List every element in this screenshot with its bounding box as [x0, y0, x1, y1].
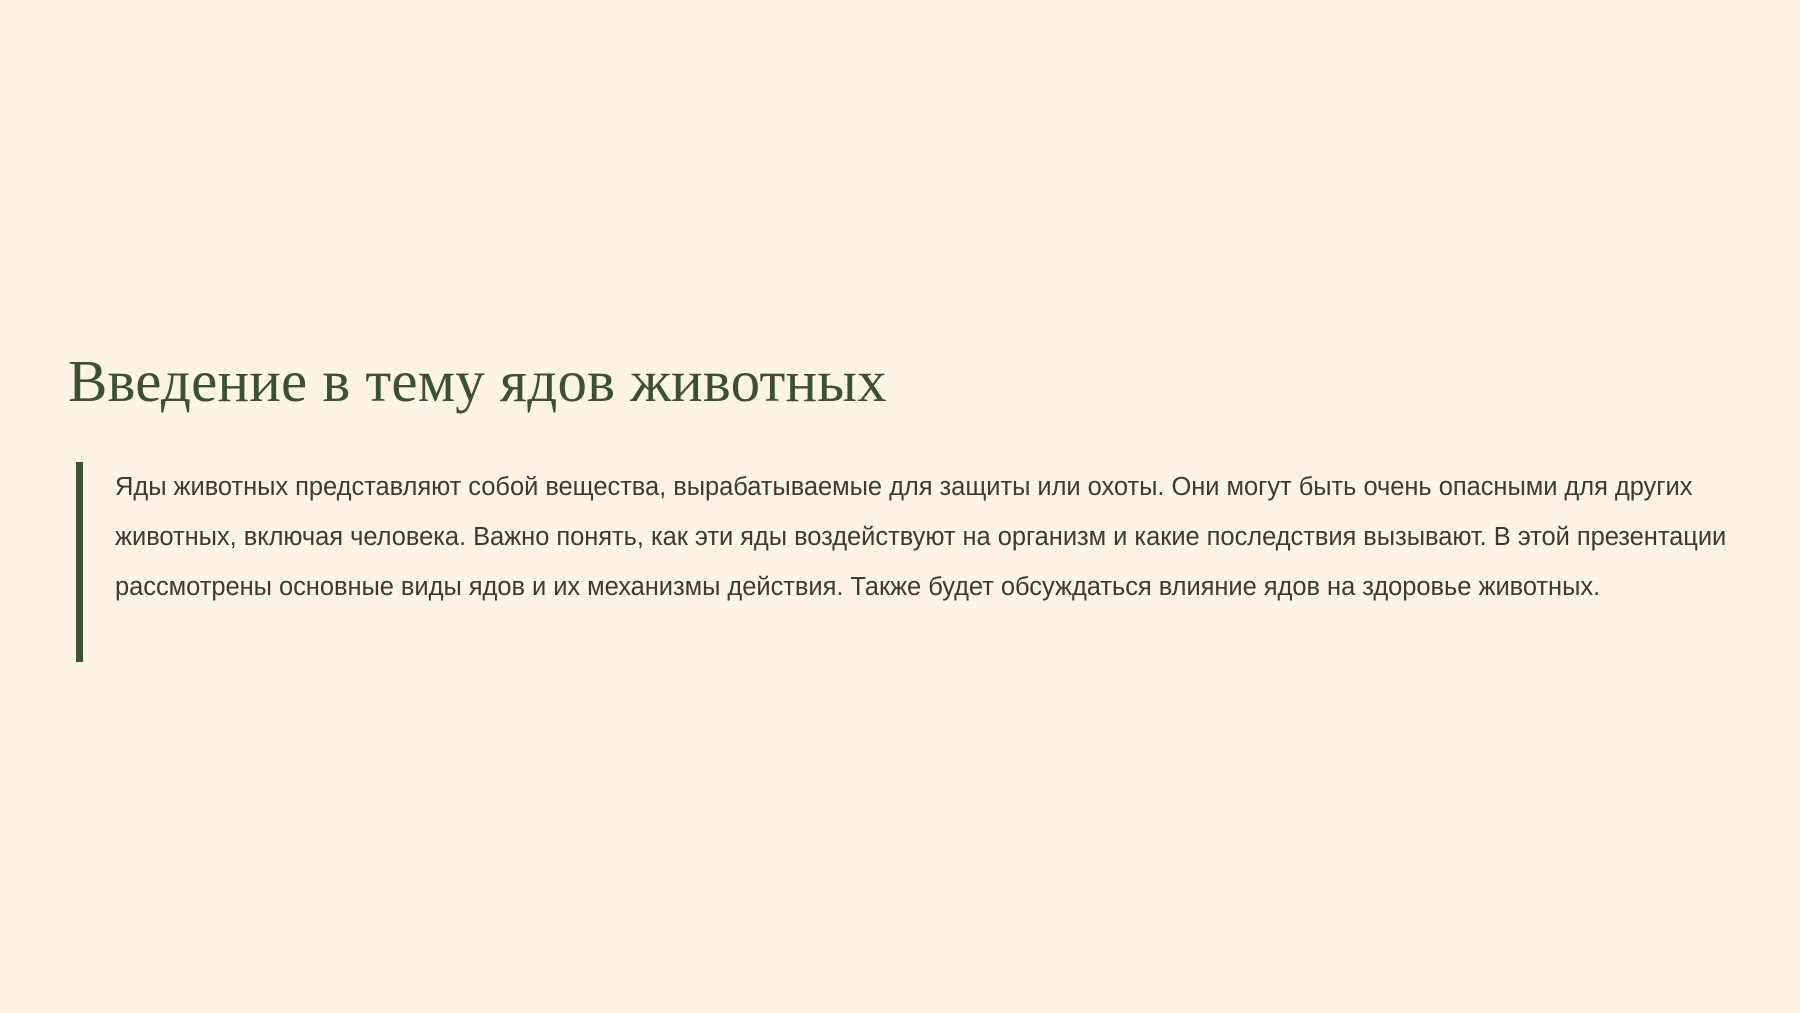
presentation-slide: Введение в тему ядов животных Яды животн… — [0, 0, 1800, 1013]
body-text-block: Яды животных представляют собой вещества… — [68, 462, 1740, 612]
page-title: Введение в тему ядов животных — [68, 348, 1740, 414]
accent-bar — [76, 462, 83, 662]
body-paragraph: Яды животных представляют собой вещества… — [115, 462, 1770, 612]
slide-content-container: Введение в тему ядов животных Яды животн… — [68, 348, 1740, 612]
